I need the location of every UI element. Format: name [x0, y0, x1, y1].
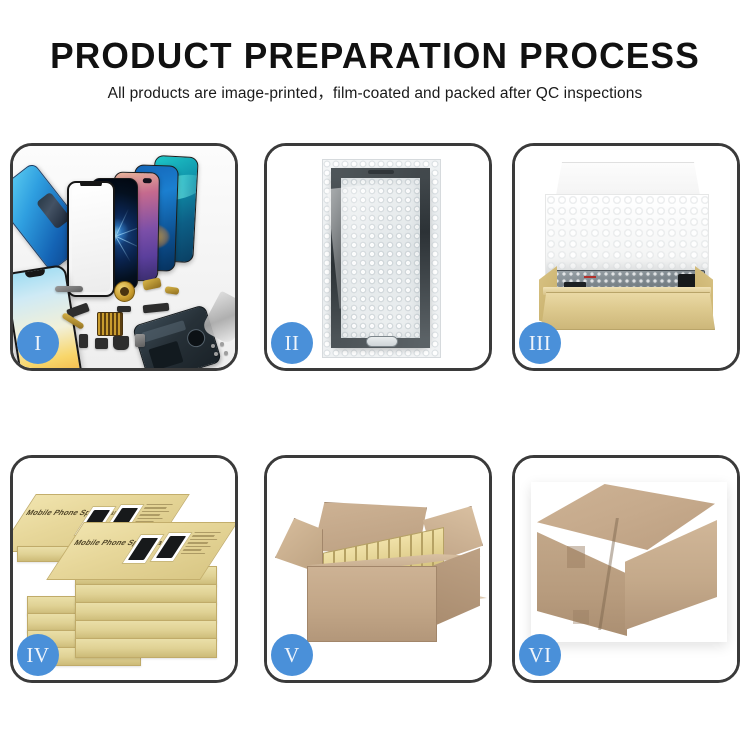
part-small-4: [135, 334, 145, 347]
process-step-panel-1[interactable]: 06:08: [10, 143, 238, 371]
stacked-box-slab: [75, 620, 217, 640]
process-step-panel-4[interactable]: Mobile Phone Spare Parts Mobile Phone Sp…: [10, 455, 238, 683]
carton-tab-upper: [567, 546, 585, 568]
kraft-mailer-box-icon: [541, 292, 715, 330]
process-step-panel-3[interactable]: III: [512, 143, 740, 371]
process-step-panel-2[interactable]: II: [264, 143, 492, 371]
step-badge-1: I: [17, 322, 59, 364]
foam-padding-icon: [545, 194, 709, 278]
step-badge-5: V: [271, 634, 313, 676]
step-3-image: III: [515, 146, 737, 368]
stacked-box-slab: [75, 584, 217, 604]
screws-icon: [209, 342, 231, 360]
step-5-image: V: [267, 458, 489, 680]
step-badge-4: IV: [17, 634, 59, 676]
process-step-grid: 06:08: [0, 0, 750, 750]
step-6-image: VI: [515, 458, 737, 680]
part-small-1: [79, 334, 88, 348]
step-badge-2: II: [271, 322, 313, 364]
part-small-5: [117, 306, 131, 312]
step-4-image: Mobile Phone Spare Parts Mobile Phone Sp…: [13, 458, 235, 680]
step-badge-3: III: [519, 322, 561, 364]
part-small-3: [113, 336, 129, 350]
printed-kraft-box-front: Mobile Phone Spare Parts: [65, 522, 217, 578]
step-2-image: II: [267, 146, 489, 368]
product-preparation-process-page: PRODUCT PREPARATION PROCESS All products…: [0, 0, 750, 750]
carton-tab-lower: [573, 610, 589, 624]
chip-component-icon: [97, 312, 123, 336]
part-strip-1: [55, 286, 83, 292]
open-carton-icon: [307, 566, 437, 642]
step-badge-6: VI: [519, 634, 561, 676]
process-step-panel-5[interactable]: V: [264, 455, 492, 683]
stacked-box-slab: [75, 602, 217, 622]
stacked-box-slab: [75, 638, 217, 658]
speaker-component-icon: [114, 281, 135, 302]
white-screen-phone-icon: [67, 181, 115, 297]
part-small-2: [95, 338, 108, 349]
step-1-image: 06:08: [13, 146, 235, 368]
process-step-panel-6[interactable]: VI: [512, 455, 740, 683]
wrapped-screen-icon: [331, 168, 430, 348]
